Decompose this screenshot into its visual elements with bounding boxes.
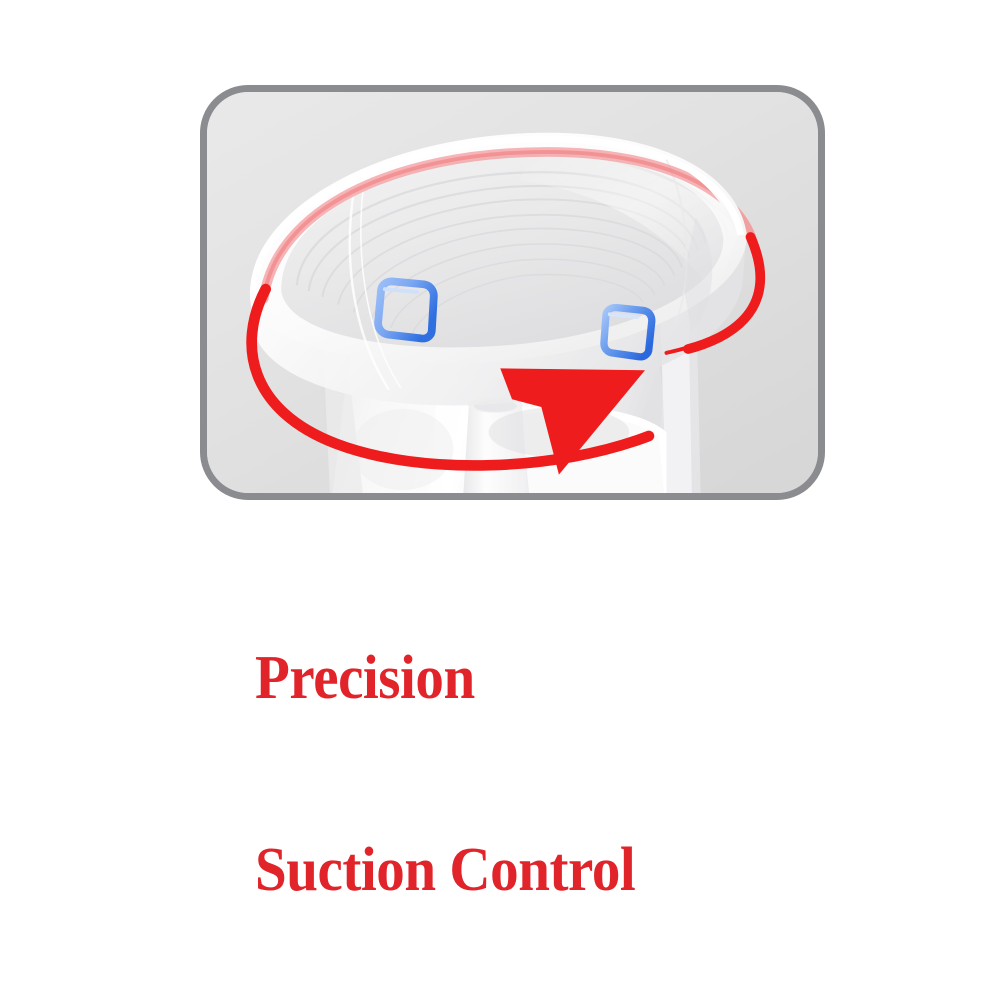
product-illustration-graphic — [207, 92, 818, 493]
caption-block: Precision Suction Control Experience cus… — [255, 518, 815, 1000]
page-title: Precision Suction Control — [255, 518, 770, 1000]
infographic-page: Precision Suction Control Experience cus… — [0, 0, 1000, 1000]
product-illustration-panel — [200, 85, 825, 500]
headline-line-2: Suction Control — [255, 838, 770, 902]
headline-line-1: Precision — [255, 646, 770, 710]
